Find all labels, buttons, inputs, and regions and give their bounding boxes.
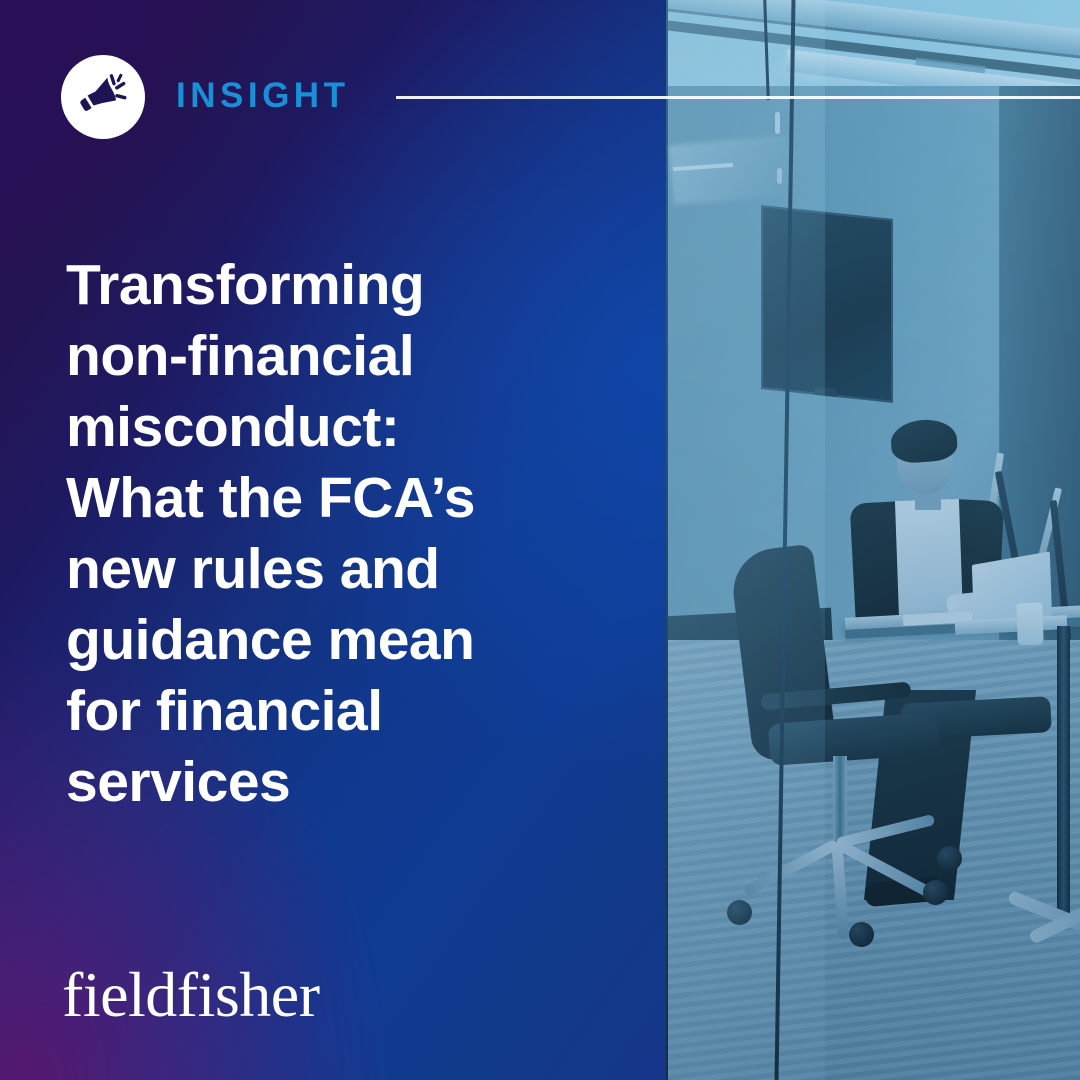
- title-line: non-financial: [66, 321, 606, 392]
- title-line: new rules and: [66, 534, 606, 605]
- megaphone-icon: [61, 55, 145, 139]
- fieldfisher-logo: fieldfisher: [62, 960, 320, 1030]
- photo-chair-caster-1: [923, 880, 948, 905]
- category-label: INSIGHT: [176, 74, 349, 118]
- photo-chair-caster-4: [937, 846, 962, 871]
- title-line: for financial: [66, 676, 606, 747]
- title-line: Transforming: [66, 250, 606, 321]
- card-header: INSIGHT: [0, 0, 1080, 180]
- title-line: misconduct:: [66, 392, 606, 463]
- photo-cup: [1016, 603, 1043, 646]
- header-divider-rule: [396, 96, 1080, 99]
- page-title: Transforming non-financial misconduct: W…: [66, 250, 606, 818]
- photo-desk-leg: [1057, 626, 1070, 922]
- title-line: What the FCA’s: [66, 463, 606, 534]
- photo-chair-post: [833, 756, 847, 844]
- photo-chair-caster-3: [849, 922, 874, 947]
- title-line: guidance mean: [66, 605, 606, 676]
- insight-social-card: INSIGHT Transforming non-financial misco…: [0, 0, 1080, 1080]
- title-line: services: [66, 747, 606, 818]
